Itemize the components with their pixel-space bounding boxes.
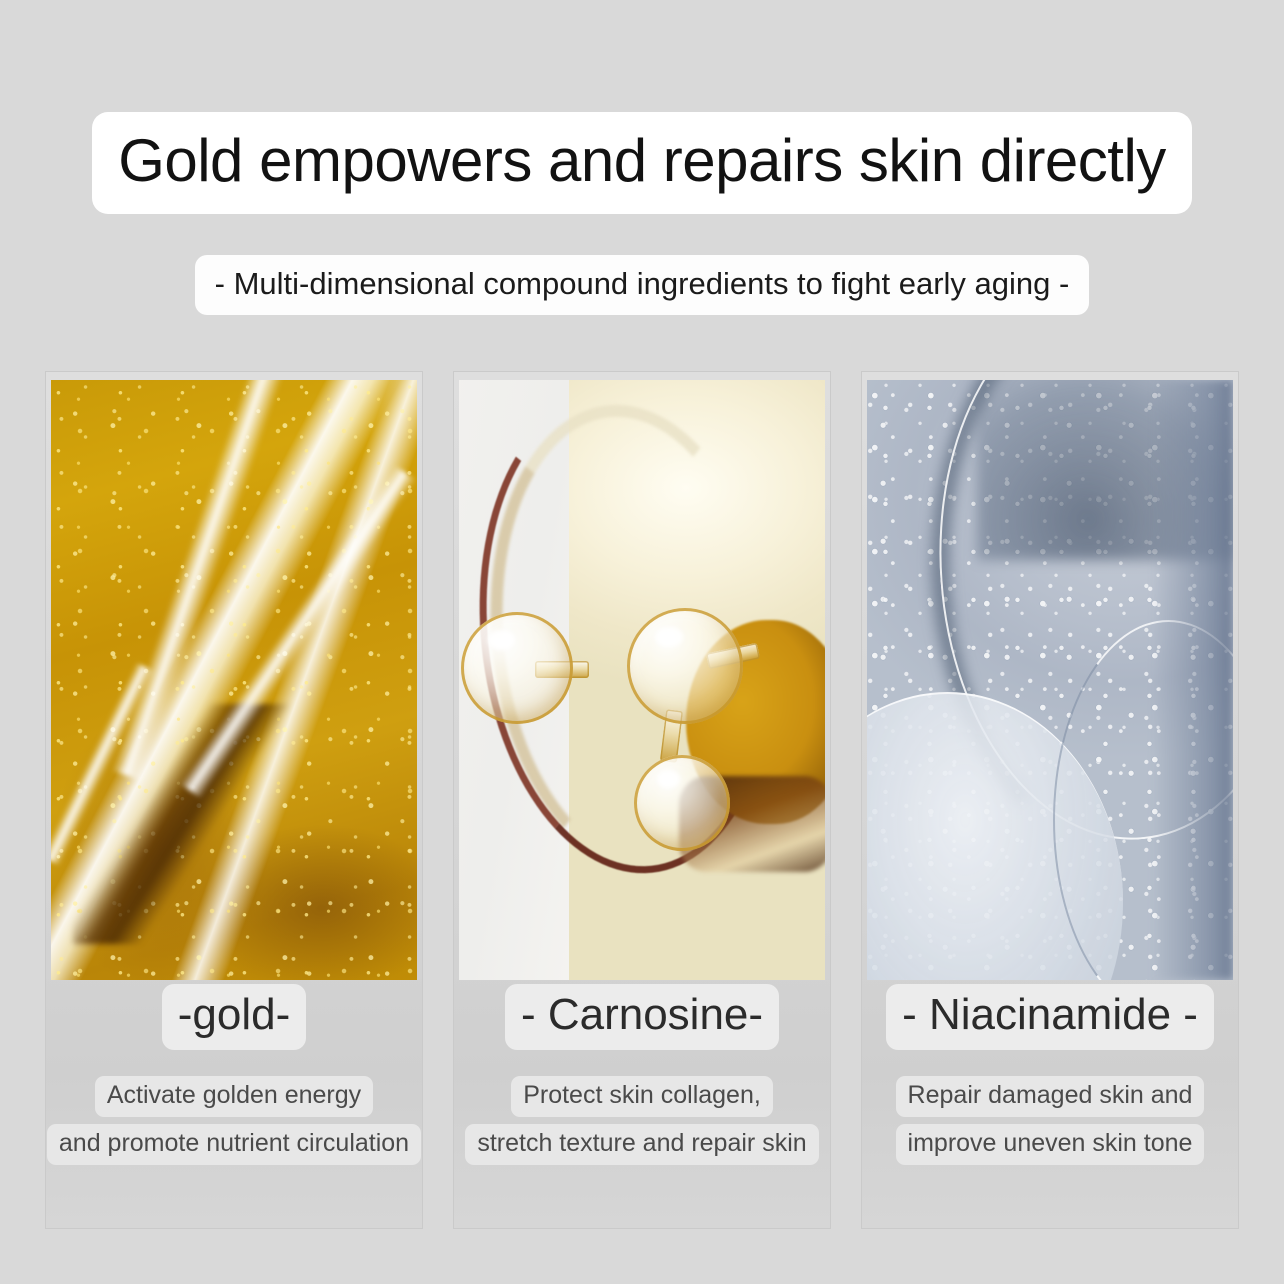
ingredient-columns: -gold- Activate golden energy and promot… xyxy=(0,372,1284,1228)
carnosine-desc-line-1: Protect skin collagen, xyxy=(523,1079,761,1112)
ingredient-card-gold[interactable]: -gold- Activate golden energy and promot… xyxy=(46,372,422,1228)
gold-gel-texture-photo xyxy=(51,380,417,980)
gold-description: Activate golden energy and promote nutri… xyxy=(46,1076,422,1172)
gold-desc-line-2: and promote nutrient circulation xyxy=(59,1127,409,1160)
ingredient-card-carnosine[interactable]: - Carnosine- Protect skin collagen, stre… xyxy=(454,372,830,1228)
ingredient-name-gold: -gold- xyxy=(178,988,291,1042)
gold-desc-line-1-box: Activate golden energy xyxy=(95,1076,373,1117)
ingredient-name-box-carnosine: - Carnosine- xyxy=(505,984,779,1050)
niacinamide-petri-dish-photo xyxy=(867,380,1233,980)
carnosine-desc-line-2: stretch texture and repair skin xyxy=(477,1127,806,1160)
ingredient-name-box-niacinamide: - Niacinamide - xyxy=(886,984,1214,1050)
page-title-box: Gold empowers and repairs skin directly xyxy=(92,112,1192,214)
gold-desc-line-2-box: and promote nutrient circulation xyxy=(47,1124,421,1165)
niacinamide-description: Repair damaged skin and improve uneven s… xyxy=(862,1076,1238,1172)
subtitle-wrap: - Multi-dimensional compound ingredients… xyxy=(0,255,1284,315)
niacinamide-desc-line-2-box: improve uneven skin tone xyxy=(896,1124,1205,1165)
carnosine-label-zone: - Carnosine- Protect skin collagen, stre… xyxy=(454,984,830,1172)
sphere-highlight xyxy=(488,630,515,650)
molecule-sphere-bottom xyxy=(634,755,730,851)
carnosine-molecule-bubbles-photo xyxy=(459,380,825,980)
gold-label-zone: -gold- Activate golden energy and promot… xyxy=(46,984,422,1172)
gold-desc-line-1: Activate golden energy xyxy=(107,1079,361,1112)
molecule-sphere-center xyxy=(627,608,743,724)
page-title: Gold empowers and repairs skin directly xyxy=(118,126,1166,196)
carnosine-description: Protect skin collagen, stretch texture a… xyxy=(454,1076,830,1172)
carnosine-desc-line-2-box: stretch texture and repair skin xyxy=(465,1124,818,1165)
page-subtitle: - Multi-dimensional compound ingredients… xyxy=(215,265,1070,303)
header: Gold empowers and repairs skin directly xyxy=(0,0,1284,214)
niacinamide-right-shadow xyxy=(1152,380,1233,980)
ingredient-name-box-gold: -gold- xyxy=(162,984,307,1050)
niacinamide-label-zone: - Niacinamide - Repair damaged skin and … xyxy=(862,984,1238,1172)
molecule-sphere-left xyxy=(461,612,573,724)
niacinamide-desc-line-2: improve uneven skin tone xyxy=(908,1127,1193,1160)
sphere-highlight xyxy=(655,627,683,648)
carnosine-desc-line-1-box: Protect skin collagen, xyxy=(511,1076,773,1117)
page-subtitle-box: - Multi-dimensional compound ingredients… xyxy=(195,255,1090,315)
ingredient-name-carnosine: - Carnosine- xyxy=(521,988,763,1042)
niacinamide-desc-line-1: Repair damaged skin and xyxy=(908,1079,1193,1112)
niacinamide-desc-line-1-box: Repair damaged skin and xyxy=(896,1076,1205,1117)
ingredient-card-niacinamide[interactable]: - Niacinamide - Repair damaged skin and … xyxy=(862,372,1238,1228)
ingredient-name-niacinamide: - Niacinamide - xyxy=(902,988,1198,1042)
sphere-highlight xyxy=(657,770,680,787)
